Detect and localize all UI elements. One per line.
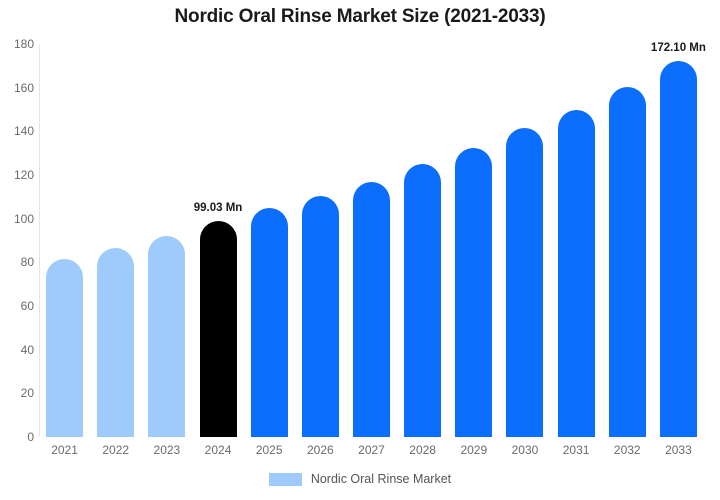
bar-2032[interactable] — [609, 87, 646, 437]
plot-area: 99.03 Mn172.10 Mn — [39, 44, 704, 437]
y-axis: 020406080100120140160180 — [0, 44, 34, 437]
bar-group-2026[interactable] — [302, 44, 339, 437]
y-axis-tick-label: 0 — [2, 430, 34, 444]
bar-group-2029[interactable] — [455, 44, 492, 437]
x-axis-tick-label-2033: 2033 — [648, 443, 708, 457]
bar-2024[interactable] — [200, 221, 237, 437]
bar-2027[interactable] — [353, 182, 390, 437]
bar-2022[interactable] — [97, 248, 134, 437]
bar-2028[interactable] — [404, 164, 441, 437]
bar-group-2033[interactable]: 172.10 Mn — [660, 44, 697, 437]
bar-2030[interactable] — [506, 128, 543, 437]
bar-2026[interactable] — [302, 196, 339, 437]
legend-label-nordic-oral-rinse-market: Nordic Oral Rinse Market — [311, 472, 451, 486]
bar-group-2028[interactable] — [404, 44, 441, 437]
bar-2033[interactable] — [660, 61, 697, 437]
x-axis: 2021202220232024202520262027202820292030… — [39, 443, 704, 465]
y-axis-tick-label: 20 — [2, 386, 34, 400]
bar-group-2031[interactable] — [558, 44, 595, 437]
bar-group-2024[interactable]: 99.03 Mn — [200, 44, 237, 437]
bar-value-label-2024: 99.03 Mn — [194, 202, 243, 214]
bar-2031[interactable] — [558, 110, 595, 438]
y-axis-tick-label: 80 — [2, 255, 34, 269]
bar-2029[interactable] — [455, 148, 492, 437]
bar-group-2021[interactable] — [46, 44, 83, 437]
bar-group-2025[interactable] — [251, 44, 288, 437]
y-axis-tick-label: 160 — [2, 81, 34, 95]
bar-chart: Nordic Oral Rinse Market Size (2021-2033… — [0, 0, 720, 500]
chart-legend: Nordic Oral Rinse Market — [0, 472, 720, 486]
y-axis-tick-label: 120 — [2, 168, 34, 182]
bar-2023[interactable] — [148, 236, 185, 437]
y-axis-tick-label: 180 — [2, 37, 34, 51]
bar-group-2022[interactable] — [97, 44, 134, 437]
y-axis-tick-label: 60 — [2, 299, 34, 313]
chart-title: Nordic Oral Rinse Market Size (2021-2033… — [0, 6, 720, 28]
bar-value-label-2033: 172.10 Mn — [651, 42, 706, 54]
bar-group-2032[interactable] — [609, 44, 646, 437]
y-axis-tick-label: 100 — [2, 212, 34, 226]
legend-swatch-nordic-oral-rinse-market — [269, 473, 302, 486]
bar-group-2027[interactable] — [353, 44, 390, 437]
bar-2025[interactable] — [251, 208, 288, 437]
y-axis-tick-label: 140 — [2, 124, 34, 138]
y-axis-tick-label: 40 — [2, 343, 34, 357]
bar-group-2023[interactable] — [148, 44, 185, 437]
bar-2021[interactable] — [46, 259, 83, 437]
bar-group-2030[interactable] — [506, 44, 543, 437]
